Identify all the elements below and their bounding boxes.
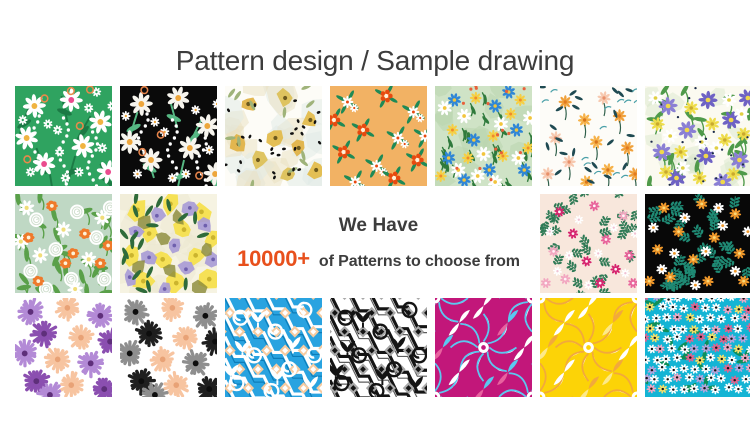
pattern-tile-blue-ikat-geometric[interactable] xyxy=(225,298,322,397)
pattern-swatch-purple-pansy-floral xyxy=(645,86,750,186)
pattern-swatch-cream-pink-ditsy xyxy=(540,194,637,293)
pattern-swatch-white-sparse-floral xyxy=(540,86,637,186)
pattern-tile-turquoise-ditsy-floral[interactable] xyxy=(645,298,750,397)
pattern-swatch-sage-rose-floral xyxy=(15,194,112,293)
pattern-swatch-pale-watercolor-floral xyxy=(225,86,322,186)
pattern-swatch-purple-peach-aster xyxy=(15,298,112,397)
pattern-tile-sage-rose-floral[interactable] xyxy=(15,194,112,293)
pattern-tile-cream-pink-ditsy[interactable] xyxy=(540,194,637,293)
pattern-count: 10000+ xyxy=(237,246,310,272)
pattern-swatch-yellow-lilac-painterly xyxy=(120,194,217,293)
pattern-swatch-grey-aster-floral xyxy=(120,298,217,397)
pattern-tile-magenta-damask[interactable] xyxy=(435,298,532,397)
pattern-tile-yellow-damask[interactable] xyxy=(540,298,637,397)
pattern-swatch-orange-ditsy-floral xyxy=(330,86,427,186)
pattern-tile-black-orange-ditsy[interactable] xyxy=(645,194,750,293)
pattern-tile-grey-aster-floral[interactable] xyxy=(120,298,217,397)
pattern-swatch-grey-ikat-geometric xyxy=(330,298,427,397)
pattern-swatch-mint-multicolor-floral xyxy=(435,86,532,186)
pattern-tile-orange-ditsy-floral[interactable] xyxy=(330,86,427,186)
pattern-swatch-turquoise-ditsy-floral xyxy=(645,298,750,397)
pattern-tile-black-daisy-floral[interactable] xyxy=(120,86,217,186)
pattern-tile-purple-pansy-floral[interactable] xyxy=(645,86,750,186)
pattern-tile-pale-watercolor-floral[interactable] xyxy=(225,86,322,186)
pattern-swatch-green-daisy-floral xyxy=(15,86,112,186)
pattern-swatch-black-daisy-floral xyxy=(120,86,217,186)
promo-subline: 10000+ of Patterns to choose from xyxy=(237,246,520,272)
promo-panel: We Have 10000+ of Patterns to choose fro… xyxy=(225,194,532,293)
pattern-swatch-blue-ikat-geometric xyxy=(225,298,322,397)
page-title: Pattern design / Sample drawing xyxy=(0,45,750,77)
pattern-swatch-magenta-damask xyxy=(435,298,532,397)
pattern-swatch-black-orange-ditsy xyxy=(645,194,750,293)
pattern-tile-mint-multicolor-floral[interactable] xyxy=(435,86,532,186)
promo-tail-text: of Patterns to choose from xyxy=(319,253,520,271)
pattern-swatch-yellow-damask xyxy=(540,298,637,397)
pattern-tile-yellow-lilac-painterly[interactable] xyxy=(120,194,217,293)
pattern-showcase-banner: Pattern design / Sample drawing We Have … xyxy=(0,0,750,431)
pattern-tile-grey-ikat-geometric[interactable] xyxy=(330,298,427,397)
pattern-tile-white-sparse-floral[interactable] xyxy=(540,86,637,186)
promo-headline: We Have xyxy=(339,216,419,235)
pattern-tile-green-daisy-floral[interactable] xyxy=(15,86,112,186)
pattern-tile-purple-peach-aster[interactable] xyxy=(15,298,112,397)
